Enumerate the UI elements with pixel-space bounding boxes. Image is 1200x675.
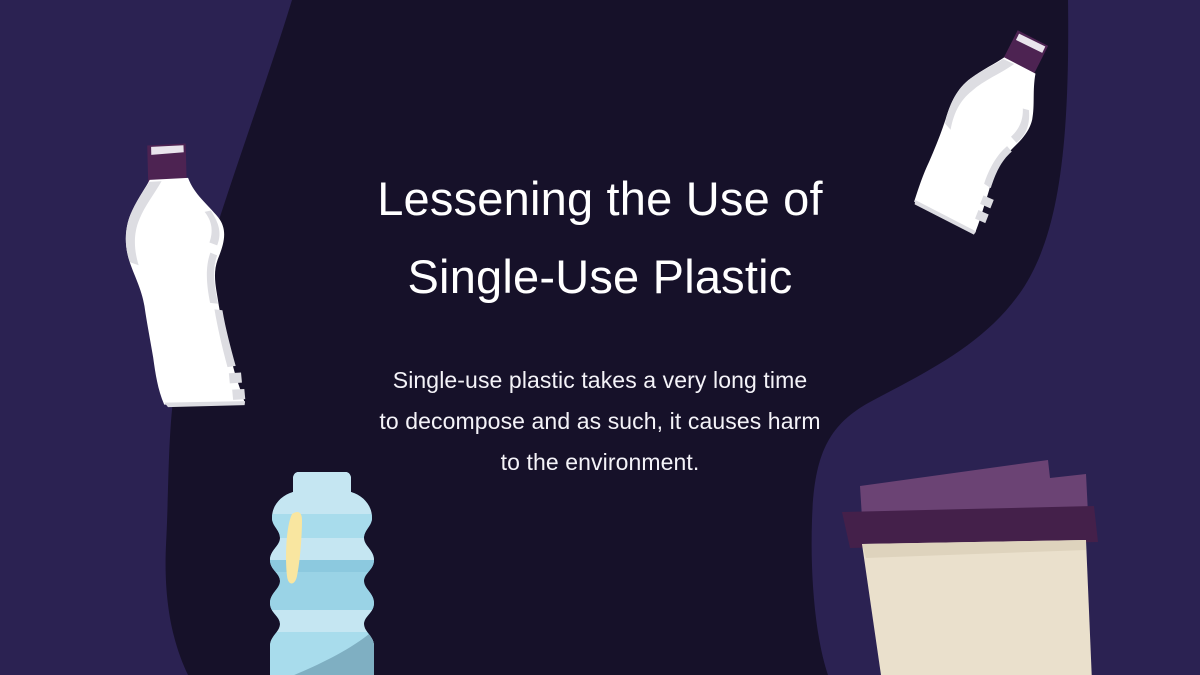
crumpled-plastic-bottle-left bbox=[108, 130, 298, 420]
text-block: Lessening the Use of Single-Use Plastic … bbox=[300, 160, 900, 483]
bottle-body bbox=[109, 172, 268, 413]
bottle-base-notch-1 bbox=[228, 371, 243, 384]
bottle-band-light-2 bbox=[252, 538, 392, 560]
slide-canvas: Lessening the Use of Single-Use Plastic … bbox=[0, 0, 1200, 675]
bottle-band-mid-2 bbox=[252, 572, 392, 610]
blue-water-bottle bbox=[252, 470, 392, 675]
disposable-coffee-cup bbox=[836, 452, 1116, 675]
page-subtitle: Single-use plastic takes a very long tim… bbox=[300, 316, 900, 483]
cup-body bbox=[862, 540, 1092, 675]
bottle-neck-shade bbox=[293, 472, 351, 494]
page-title: Lessening the Use of Single-Use Plastic bbox=[300, 160, 900, 316]
bottle-band-light-3 bbox=[252, 610, 392, 632]
bottle-base-notch-2 bbox=[231, 388, 246, 401]
bottle-band-dark-1 bbox=[252, 560, 392, 572]
crumpled-plastic-bottle-right bbox=[898, 28, 1088, 238]
bottle-band-mid-1 bbox=[252, 514, 392, 538]
